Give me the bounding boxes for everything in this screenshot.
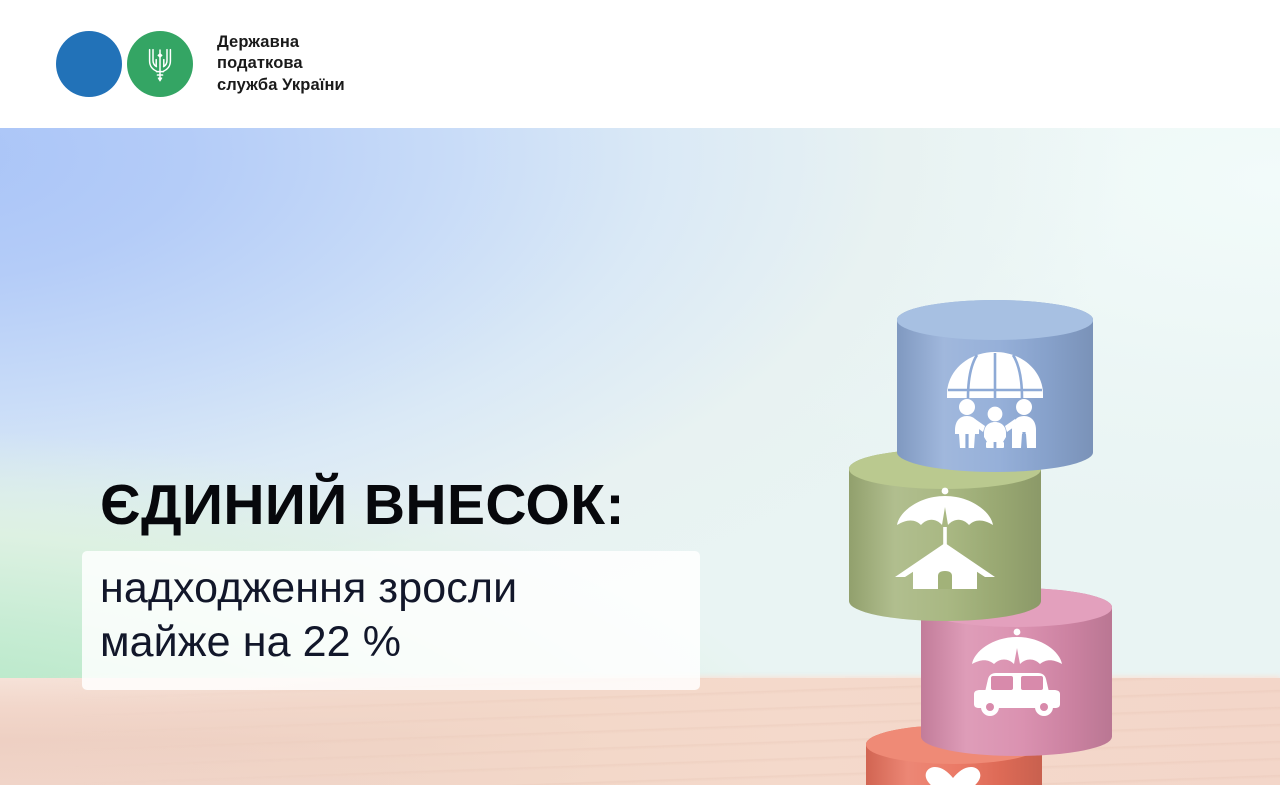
subtitle-text: надходження зросли майже на 22 % — [100, 561, 690, 669]
site-header: Державна податкова служба України — [0, 0, 1280, 128]
logo-blue-circle-icon — [56, 31, 122, 97]
page-root: Державна податкова служба України — [0, 0, 1280, 785]
subtitle-line-2: майже на 22 % — [100, 615, 690, 669]
logo-text-line-1: Державна — [217, 32, 345, 54]
hero-banner: ЄДИНИЙ ВНЕСОК: надходження зросли майже … — [0, 128, 1280, 785]
logo-text-line-3: служба України — [217, 75, 345, 97]
umbrella-over-house-icon — [889, 487, 1001, 593]
home-insurance-block — [849, 449, 1041, 621]
family-under-umbrella-icon — [939, 350, 1051, 450]
ukraine-trident-icon — [145, 45, 175, 83]
subtitle-line-1: надходження зросли — [100, 561, 690, 615]
umbrella-over-car-icon — [962, 628, 1072, 716]
heart-in-hand-icon — [902, 763, 1006, 785]
tax-service-logo[interactable]: Державна податкова служба України — [56, 31, 345, 97]
page-title: ЄДИНИЙ ВНЕСОК: — [100, 472, 625, 538]
logo-text-line-2: податкова — [217, 53, 345, 75]
logo-green-circle-icon — [127, 31, 193, 97]
cylinder-top-face — [897, 300, 1093, 340]
logo-text: Державна податкова служба України — [217, 32, 345, 97]
family-insurance-block — [897, 300, 1093, 472]
